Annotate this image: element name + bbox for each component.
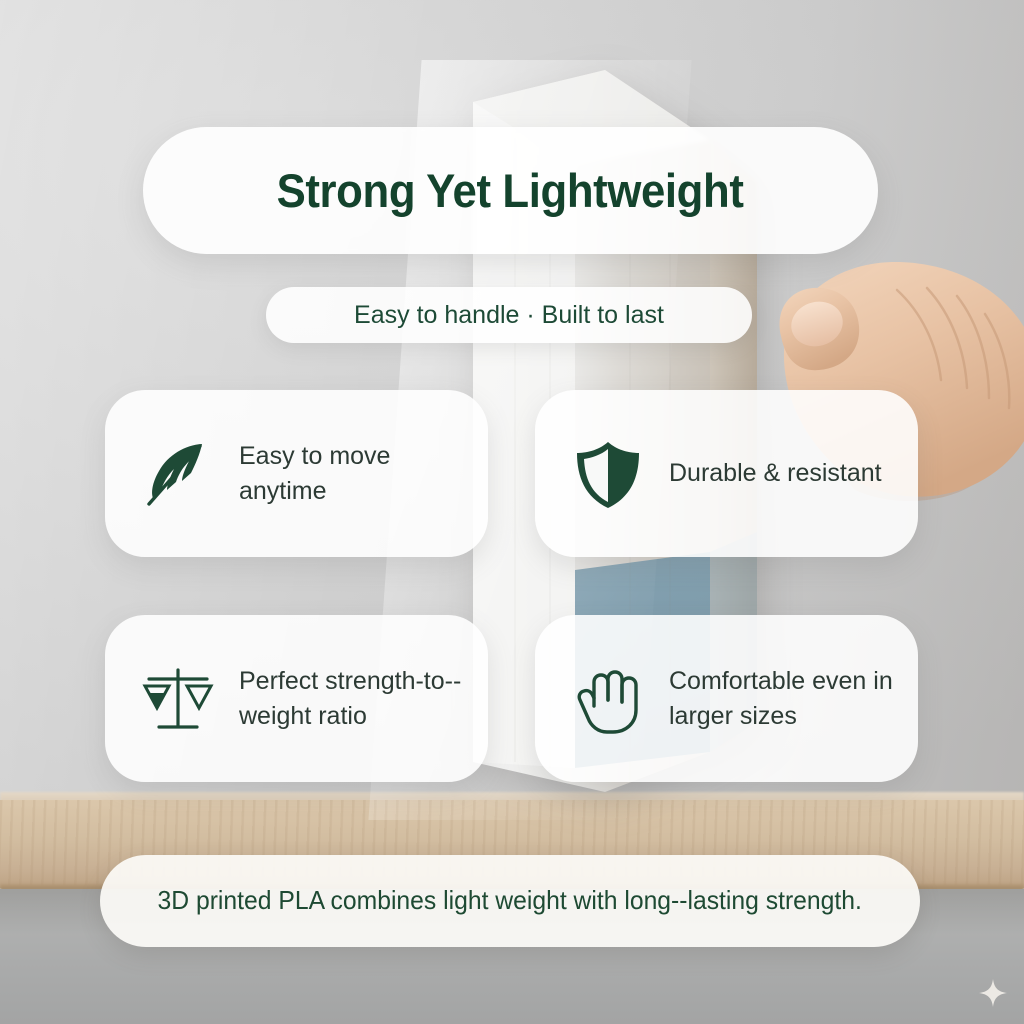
- sparkle-icon: [978, 978, 1008, 1008]
- feature-card-strength-to-weight[interactable]: Perfect strength-to--weight ratio: [105, 615, 488, 782]
- overlay-ui-layer: Strong Yet Lightweight Easy to handle · …: [0, 0, 1024, 1024]
- feature-label: Perfect strength-to--weight ratio: [239, 664, 468, 733]
- open-hand-icon: [569, 660, 647, 738]
- caption-text: 3D printed PLA combines light weight wit…: [158, 883, 862, 918]
- feather-icon: [139, 435, 217, 513]
- feature-card-easy-to-move[interactable]: Easy to move anytime: [105, 390, 488, 557]
- feature-label: Comfortable even in larger sizes: [669, 664, 898, 733]
- feature-label: Durable & resistant: [669, 456, 882, 491]
- feature-card-comfortable[interactable]: Comfortable even in larger sizes: [535, 615, 918, 782]
- feature-card-durable[interactable]: Durable & resistant: [535, 390, 918, 557]
- caption-pill: 3D printed PLA combines light weight wit…: [100, 855, 920, 947]
- feature-label: Easy to move anytime: [239, 439, 468, 508]
- shield-icon: [569, 435, 647, 513]
- balance-scale-icon: [139, 660, 217, 738]
